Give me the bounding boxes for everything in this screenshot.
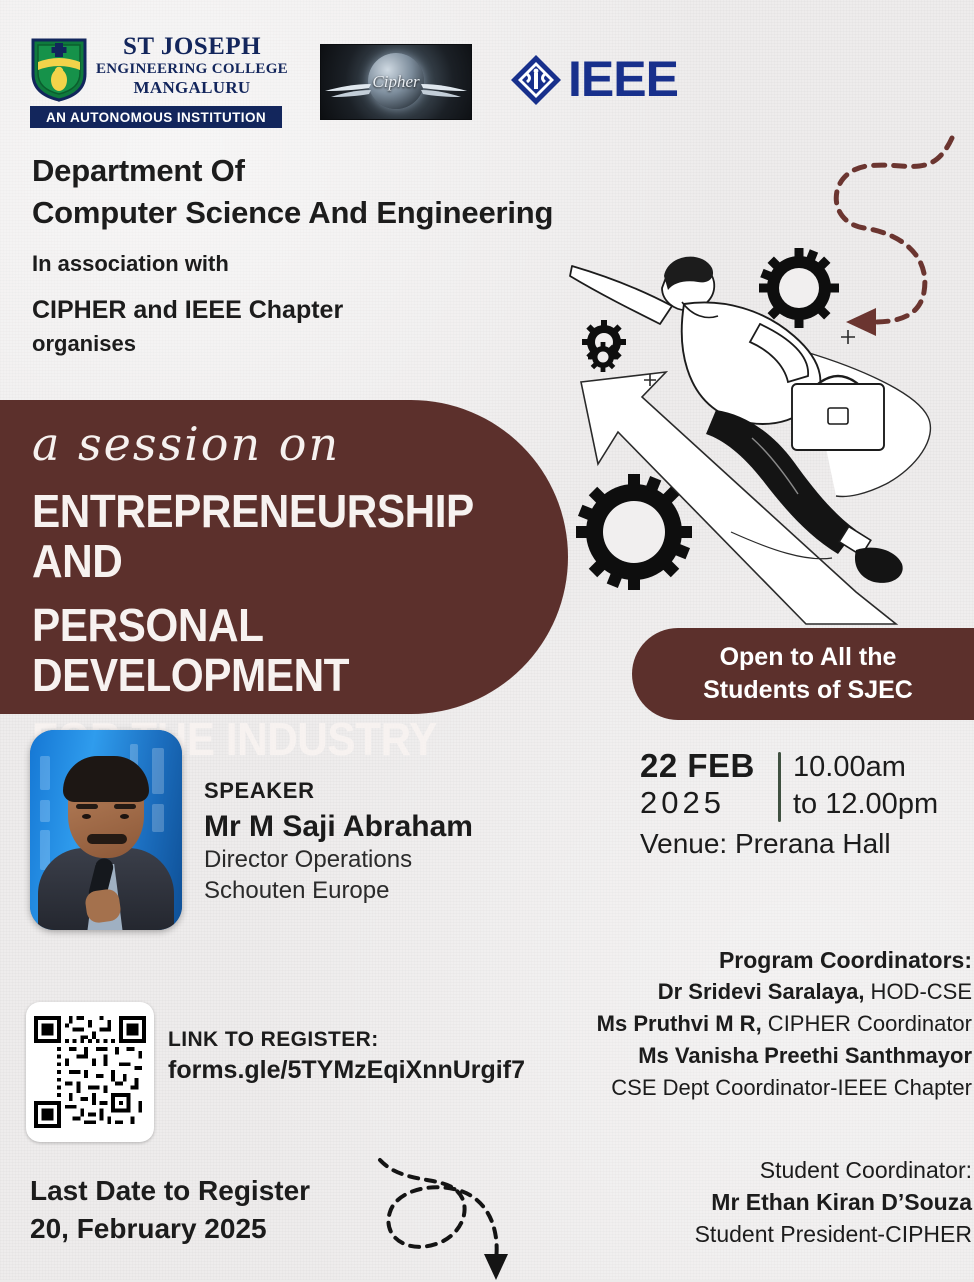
speaker-role-line1: Director Operations bbox=[204, 844, 584, 875]
program-coordinators-block: Program Coordinators: Dr Sridevi Saralay… bbox=[540, 944, 972, 1104]
coordinators-heading: Program Coordinators: bbox=[540, 944, 972, 976]
wing-right-icon bbox=[421, 81, 467, 99]
event-datetime-block: 22 FEB 2025 10.00am to 12.00pm Venue: Pr… bbox=[640, 748, 970, 860]
coordinator-name: Dr Sridevi Saralaya, bbox=[658, 979, 865, 1004]
gear-large-icon bbox=[576, 474, 692, 590]
qr-code-matrix bbox=[34, 1010, 146, 1134]
coordinator-name: Ms Pruthvi M R, bbox=[597, 1011, 762, 1036]
session-script-text: a session on bbox=[32, 416, 532, 472]
student-coordinator-block: Student Coordinator: Mr Ethan Kiran D’So… bbox=[560, 1154, 972, 1250]
businessman-illustration bbox=[556, 232, 974, 624]
open-to-all-badge: Open to All the Students of SJEC bbox=[632, 628, 974, 720]
speaker-name: Mr M Saji Abraham bbox=[204, 810, 584, 844]
college-wordmark: ST JOSEPH ENGINEERING COLLEGE MANGALURU bbox=[92, 34, 292, 97]
badge-line2: Students of SJEC bbox=[703, 674, 913, 707]
speaker-label: SPEAKER bbox=[204, 778, 584, 804]
coordinator-title: CIPHER Coordinator bbox=[762, 1011, 972, 1036]
poster-canvas: ● ST JOSEPH ENGINEERING COLLEGE MANGALUR… bbox=[0, 0, 974, 1280]
cipher-logo: Cipher bbox=[320, 44, 472, 120]
session-title-inner: a session on ENTREPRENEURSHIP AND PERSON… bbox=[32, 416, 532, 764]
student-coordinator-heading: Student Coordinator: bbox=[560, 1154, 972, 1186]
college-crest-icon: ● bbox=[30, 36, 88, 102]
last-date-block: Last Date to Register 20, February 2025 bbox=[30, 1172, 390, 1248]
event-date-line2: 2025 bbox=[640, 784, 768, 821]
coordinator-row: Ms Pruthvi M R, CIPHER Coordinator bbox=[540, 1008, 972, 1040]
last-date-line1: Last Date to Register bbox=[30, 1172, 390, 1210]
event-time-line1: 10.00am bbox=[793, 749, 938, 786]
dept-line1: Department Of bbox=[32, 150, 652, 192]
logo-row: ● ST JOSEPH ENGINEERING COLLEGE MANGALUR… bbox=[30, 34, 710, 134]
college-logo: ● ST JOSEPH ENGINEERING COLLEGE MANGALUR… bbox=[30, 34, 292, 130]
speaker-role-line2: Schouten Europe bbox=[204, 875, 584, 906]
event-time-line2: to 12.00pm bbox=[793, 786, 938, 823]
curved-dashed-arrow-bottom-icon bbox=[366, 1156, 536, 1282]
speaker-details: SPEAKER Mr M Saji Abraham Director Opera… bbox=[204, 778, 584, 906]
session-title-line1: ENTREPRENEURSHIP AND bbox=[32, 486, 492, 586]
event-date: 22 FEB 2025 bbox=[640, 748, 768, 821]
cipher-wordmark: Cipher bbox=[372, 72, 419, 92]
speaker-moustache bbox=[87, 834, 127, 844]
coordinators-footnote: CSE Dept Coordinator-IEEE Chapter bbox=[540, 1072, 972, 1104]
gear-tiny-icon bbox=[586, 340, 620, 374]
college-name-line2: ENGINEERING COLLEGE bbox=[92, 60, 292, 78]
registration-link-block: LINK TO REGISTER: forms.gle/5TYMzEqiXnnU… bbox=[168, 1028, 568, 1085]
coordinator-title: HOD-CSE bbox=[864, 979, 972, 1004]
autonomous-band: AN AUTONOMOUS INSTITUTION bbox=[30, 106, 282, 128]
session-title-banner: a session on ENTREPRENEURSHIP AND PERSON… bbox=[0, 400, 568, 714]
badge-line1: Open to All the bbox=[703, 641, 913, 674]
coordinator-row: Ms Vanisha Preethi Santhmayor bbox=[540, 1040, 972, 1072]
ieee-wordmark: IEEE bbox=[568, 50, 678, 108]
event-time: 10.00am to 12.00pm bbox=[793, 748, 938, 823]
student-coordinator-role: Student President-CIPHER bbox=[560, 1218, 972, 1250]
ieee-diamond-icon bbox=[510, 54, 562, 106]
college-name-line3: MANGALURU bbox=[92, 78, 292, 97]
speaker-photo bbox=[30, 730, 182, 930]
college-name-line1: ST JOSEPH bbox=[92, 34, 292, 60]
gear-medium-icon bbox=[759, 248, 839, 328]
register-url[interactable]: forms.gle/5TYMzEqiXnnUrgif7 bbox=[168, 1056, 568, 1085]
register-label: LINK TO REGISTER: bbox=[168, 1028, 568, 1052]
last-date-line2: 20, February 2025 bbox=[30, 1210, 390, 1248]
coordinator-name: Ms Vanisha Preethi Santhmayor bbox=[638, 1043, 972, 1068]
registration-qr-code[interactable] bbox=[26, 1002, 154, 1142]
event-date-line1: 22 FEB bbox=[640, 748, 768, 784]
event-venue: Venue: Prerana Hall bbox=[640, 828, 970, 860]
dept-line2: Computer Science And Engineering bbox=[32, 192, 652, 234]
speaker-hair bbox=[63, 756, 149, 802]
wing-left-icon bbox=[325, 81, 371, 99]
date-time-divider bbox=[778, 752, 781, 822]
student-coordinator-name: Mr Ethan Kiran D’Souza bbox=[560, 1186, 972, 1218]
coordinator-row: Dr Sridevi Saralaya, HOD-CSE bbox=[540, 976, 972, 1008]
ieee-logo: IEEE bbox=[510, 48, 710, 114]
date-time-row: 22 FEB 2025 10.00am to 12.00pm bbox=[640, 748, 970, 823]
open-to-all-text: Open to All the Students of SJEC bbox=[703, 641, 943, 707]
session-title-line2: PERSONAL DEVELOPMENT bbox=[32, 600, 492, 700]
